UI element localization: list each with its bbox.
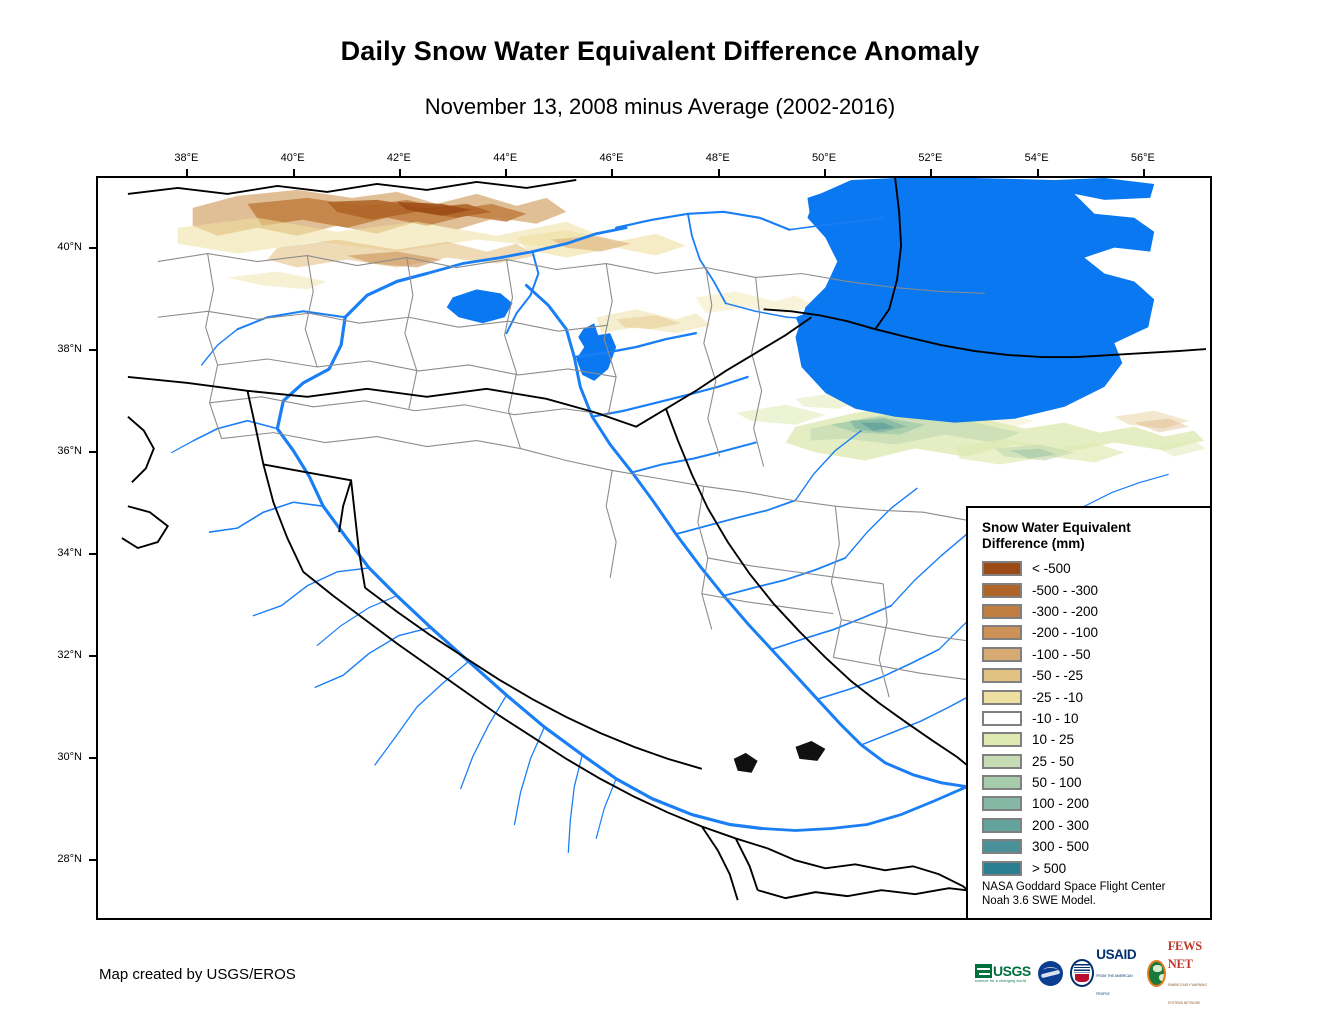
legend-row: -200 - -100 [982,622,1210,643]
lat-tick [89,859,96,861]
legend-label: -10 - 10 [1032,711,1079,726]
lon-tick [399,169,401,176]
legend-label: 200 - 300 [1032,818,1089,833]
lon-tick-label: 54°E [1025,152,1049,164]
lon-tick-label: 48°E [706,152,730,164]
legend-swatch [982,668,1022,683]
legend-row: 300 - 500 [982,836,1210,857]
lon-tick [186,169,188,176]
lat-tick-label: 32°N [57,649,82,661]
legend-row: 10 - 25 [982,729,1210,750]
usaid-logo-text: USAID [1096,947,1136,962]
legend-label: -300 - -200 [1032,604,1098,619]
legend-row: -500 - -300 [982,579,1210,600]
lat-tick [89,553,96,555]
legend-label: 50 - 100 [1032,775,1082,790]
lon-tick-label: 44°E [493,152,517,164]
lon-tick-label: 56°E [1131,152,1155,164]
legend-row: -10 - 10 [982,708,1210,729]
lon-tick-label: 52°E [918,152,942,164]
lon-tick-label: 46°E [599,152,623,164]
usaid-logo[interactable]: USAID FROM THE AMERICAN PEOPLE [1070,958,1140,988]
legend-label: 10 - 25 [1032,732,1074,747]
legend-label: < -500 [1032,561,1071,576]
legend-title-line1: Snow Water Equivalent [982,520,1182,536]
legend-label: > 500 [1032,861,1066,876]
lon-tick [505,169,507,176]
legend-row: > 500 [982,857,1210,878]
lat-tick [89,247,96,249]
lat-tick-label: 36°N [57,445,82,457]
legend-label: -100 - -50 [1032,647,1091,662]
legend-row: -25 - -10 [982,686,1210,707]
lat-tick-label: 28°N [57,853,82,865]
legend-swatch [982,625,1022,640]
legend-label: -25 - -10 [1032,690,1083,705]
legend-label: -50 - -25 [1032,668,1083,683]
nasa-meatball-icon [1038,961,1063,986]
legend-swatch [982,754,1022,769]
legend-swatch [982,690,1022,705]
lon-tick [293,169,295,176]
legend-title-line2: Difference (mm) [982,536,1182,552]
lon-tick-label: 38°E [174,152,198,164]
fews-globe-icon [1147,960,1166,987]
legend-row: -300 - -200 [982,601,1210,622]
lon-tick-label: 50°E [812,152,836,164]
legend-row: 100 - 200 [982,793,1210,814]
page-title: Daily Snow Water Equivalent Difference A… [0,36,1320,67]
legend-swatch [982,647,1022,662]
legend-label: -500 - -300 [1032,583,1098,598]
map-legend: Snow Water Equivalent Difference (mm) < … [966,506,1212,920]
legend-title: Snow Water Equivalent Difference (mm) [982,520,1182,552]
legend-swatch [982,583,1022,598]
usgs-wave-icon [975,964,992,978]
lon-tick [1037,169,1039,176]
lon-tick [930,169,932,176]
lon-tick [824,169,826,176]
lon-tick [1143,169,1145,176]
lat-tick [89,451,96,453]
lat-tick [89,655,96,657]
legend-swatch [982,796,1022,811]
legend-note-line2: Noah 3.6 SWE Model. [982,894,1165,908]
legend-row: < -500 [982,558,1210,579]
lat-tick [89,757,96,759]
legend-swatch [982,775,1022,790]
usaid-tagline: FROM THE AMERICAN PEOPLE [1096,974,1132,996]
lake-tharthar [734,753,758,773]
legend-label: 300 - 500 [1032,839,1089,854]
caspian-sea [795,178,1154,423]
legend-row: 200 - 300 [982,815,1210,836]
nasa-logo[interactable] [1038,958,1063,988]
lon-tick [718,169,720,176]
legend-row: -100 - -50 [982,644,1210,665]
legend-row: 50 - 100 [982,772,1210,793]
legend-swatch [982,732,1022,747]
lat-tick-label: 40°N [57,241,82,253]
agency-logo-bar: USGS science for a changing world USAID … [975,955,1215,991]
legend-note-line1: NASA Goddard Space Flight Center [982,880,1165,894]
lake-van [447,289,513,323]
lon-tick-label: 40°E [281,152,305,164]
page-subtitle: November 13, 2008 minus Average (2002-20… [0,94,1320,120]
fews-net-logo-text: FEWS NET [1168,939,1202,971]
legend-label: -200 - -100 [1032,625,1098,640]
lon-tick-label: 42°E [387,152,411,164]
legend-source-note: NASA Goddard Space Flight Center Noah 3.… [982,880,1165,908]
fews-net-tagline: FAMINE EARLY WARNING SYSTEMS NETWORK [1168,983,1207,1005]
legend-swatch [982,561,1022,576]
usaid-seal-icon [1070,959,1095,987]
fews-net-logo[interactable]: FEWS NET FAMINE EARLY WARNING SYSTEMS NE… [1147,958,1215,988]
legend-swatch [982,861,1022,876]
usgs-logo[interactable]: USGS science for a changing world [975,958,1031,988]
legend-swatch [982,818,1022,833]
usgs-logo-text: USGS [993,964,1031,978]
legend-label: 100 - 200 [1032,796,1089,811]
lat-tick [89,349,96,351]
legend-items: < -500-500 - -300-300 - -200-200 - -100-… [982,558,1210,879]
legend-row: -50 - -25 [982,665,1210,686]
legend-swatch [982,711,1022,726]
legend-label: 25 - 50 [1032,754,1074,769]
lon-tick [611,169,613,176]
legend-swatch [982,604,1022,619]
lat-tick-label: 34°N [57,547,82,559]
legend-swatch [982,839,1022,854]
map-credit: Map created by USGS/EROS [99,966,296,983]
legend-row: 25 - 50 [982,751,1210,772]
usgs-tagline: science for a changing world [975,979,1026,983]
lat-tick-label: 38°N [57,343,82,355]
lat-tick-label: 30°N [57,751,82,763]
